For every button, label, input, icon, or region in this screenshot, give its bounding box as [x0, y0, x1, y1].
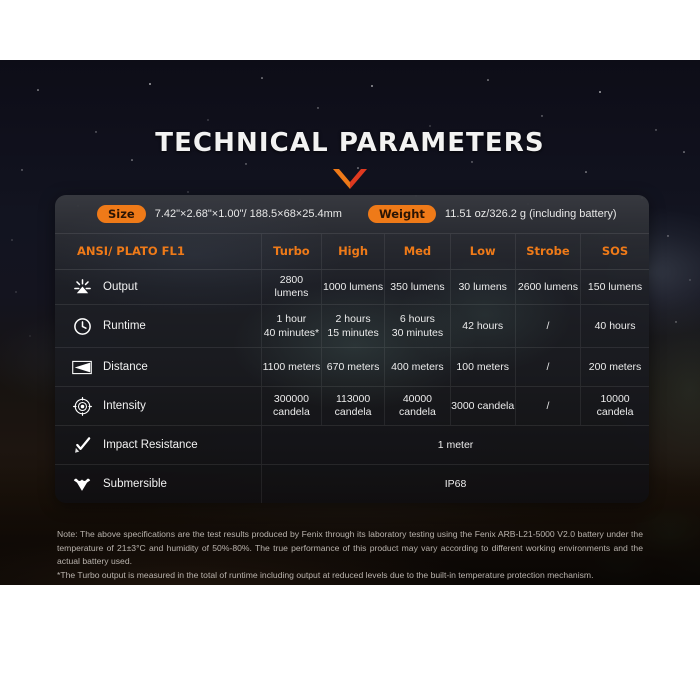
- table-row-runtime: Runtime 1 hour 40 minutes* 2 hours 15 mi…: [55, 305, 649, 348]
- cell-runtime-strobe: /: [515, 305, 580, 347]
- header-high: High: [321, 234, 384, 269]
- specs-panel: Size 7.42"×2.68"×1.00"/ 188.5×68×25.4mm …: [55, 195, 649, 503]
- cell-output-med: 350 lumens: [384, 270, 449, 304]
- table-header-row: ANSI/ PLATO FL1 Turbo High Med Low Strob…: [55, 234, 649, 270]
- cell-runtime-sos: 40 hours: [580, 305, 649, 347]
- size-pill: Size: [97, 205, 146, 223]
- cell-runtime-turbo: 1 hour 40 minutes*: [261, 305, 321, 347]
- weight-value: 11.51 oz/326.2 g (including battery): [445, 208, 617, 220]
- value-line-1: 2 hours: [336, 313, 371, 326]
- cell-intensity-sos: 10000 candela: [580, 387, 649, 425]
- cell-output-sos: 150 lumens: [580, 270, 649, 304]
- row-label-text: Output: [103, 281, 138, 294]
- cell-distance-sos: 200 meters: [580, 348, 649, 386]
- cell-intensity-strobe: /: [515, 387, 580, 425]
- row-label-text: Runtime: [103, 320, 146, 333]
- cell-output-turbo: 2800 lumens: [261, 270, 321, 304]
- table-row-submersible: Submersible IP68: [55, 465, 649, 503]
- cell-intensity-turbo: 300000 candela: [261, 387, 321, 425]
- cell-distance-strobe: /: [515, 348, 580, 386]
- cell-distance-high: 670 meters: [321, 348, 384, 386]
- cell-runtime-med: 6 hours 30 minutes: [384, 305, 449, 347]
- header-sos: SOS: [580, 234, 649, 269]
- footnote-line-2: *The Turbo output is measured in the tot…: [57, 569, 643, 583]
- row-label-text: Impact Resistance: [103, 439, 198, 452]
- row-label-distance: Distance: [55, 348, 261, 386]
- cell-distance-med: 400 meters: [384, 348, 449, 386]
- weight-pill: Weight: [368, 205, 436, 223]
- cell-submersible-value: IP68: [261, 465, 649, 503]
- row-label-impact-resistance: Impact Resistance: [55, 426, 261, 464]
- beam-icon: [71, 356, 93, 378]
- chevron-down-icon: [0, 169, 700, 189]
- value-line-1: 1 hour: [277, 313, 307, 326]
- droplet-icon: [71, 473, 93, 495]
- sunburst-icon: [71, 276, 93, 298]
- footnote-line-1: Note: The above specifications are the t…: [57, 528, 643, 569]
- crosshair-icon: [71, 395, 93, 417]
- cell-intensity-low: 3000 candela: [450, 387, 515, 425]
- value-line-1: 6 hours: [400, 313, 435, 326]
- cell-distance-turbo: 1100 meters: [261, 348, 321, 386]
- row-label-text: Submersible: [103, 478, 167, 491]
- row-label-intensity: Intensity: [55, 387, 261, 425]
- page-title: TECHNICAL PARAMETERS: [0, 128, 700, 158]
- cell-distance-low: 100 meters: [450, 348, 515, 386]
- title-block: TECHNICAL PARAMETERS: [0, 128, 700, 189]
- header-ansi-plato: ANSI/ PLATO FL1: [55, 234, 261, 269]
- row-label-submersible: Submersible: [55, 465, 261, 503]
- cell-intensity-high: 113000 candela: [321, 387, 384, 425]
- cell-runtime-high: 2 hours 15 minutes: [321, 305, 384, 347]
- clock-icon: [71, 315, 93, 337]
- value-line-2: 15 minutes: [327, 327, 378, 340]
- cell-output-low: 30 lumens: [450, 270, 515, 304]
- size-value: 7.42"×2.68"×1.00"/ 188.5×68×25.4mm: [155, 208, 342, 220]
- row-label-runtime: Runtime: [55, 305, 261, 347]
- header-strobe: Strobe: [515, 234, 580, 269]
- row-label-output: Output: [55, 270, 261, 304]
- header-turbo: Turbo: [261, 234, 321, 269]
- cell-output-high: 1000 lumens: [321, 270, 384, 304]
- value-line-2: 40 minutes*: [264, 327, 319, 340]
- cell-runtime-low: 42 hours: [450, 305, 515, 347]
- table-row-impact-resistance: Impact Resistance 1 meter: [55, 426, 649, 465]
- row-label-text: Intensity: [103, 400, 146, 413]
- header-med: Med: [384, 234, 449, 269]
- cell-output-strobe: 2600 lumens: [515, 270, 580, 304]
- product-spec-image: TECHNICAL PARAMETERS Size 7.42"×2.68"×1.…: [0, 0, 700, 700]
- row-label-text: Distance: [103, 361, 148, 374]
- table-row-output: Output 2800 lumens 1000 lumens 350 lumen…: [55, 270, 649, 305]
- header-low: Low: [450, 234, 515, 269]
- impact-icon: [71, 434, 93, 456]
- footnote: Note: The above specifications are the t…: [57, 528, 643, 582]
- cell-intensity-med: 40000 candela: [384, 387, 449, 425]
- cell-impact-resistance-value: 1 meter: [261, 426, 649, 464]
- value-line-2: 30 minutes: [392, 327, 443, 340]
- table-row-distance: Distance 1100 meters 670 meters 400 mete…: [55, 348, 649, 387]
- size-weight-row: Size 7.42"×2.68"×1.00"/ 188.5×68×25.4mm …: [55, 195, 649, 234]
- table-row-intensity: Intensity 300000 candela 113000 candela …: [55, 387, 649, 426]
